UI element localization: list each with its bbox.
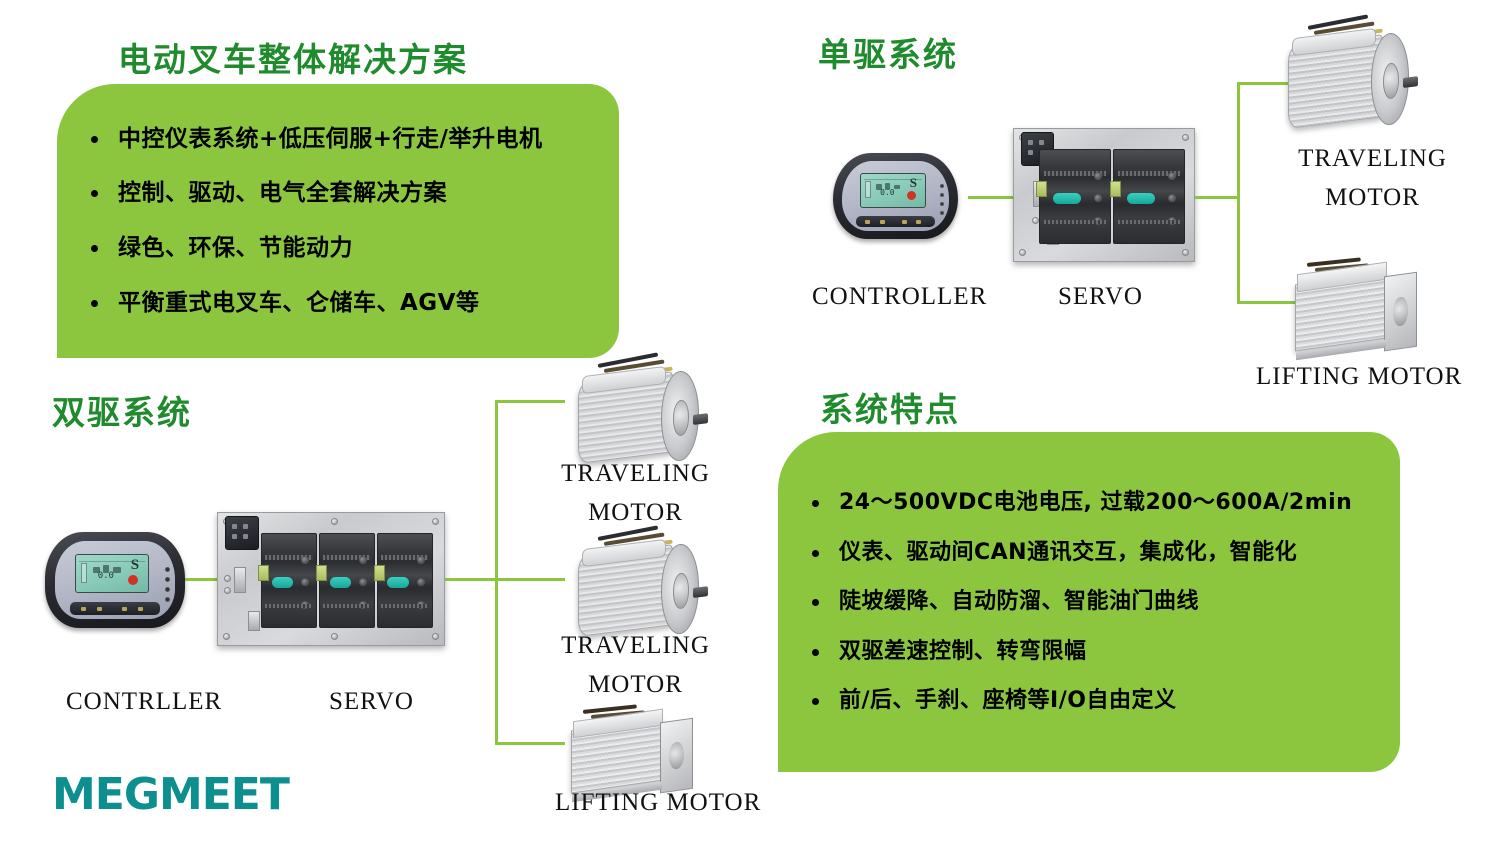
motor-shaft <box>693 586 708 598</box>
bullet-dot-icon <box>812 599 819 606</box>
single-drive-traveling-motor-image <box>1288 24 1416 136</box>
connector-pin <box>232 534 237 539</box>
servo-module <box>1113 149 1185 244</box>
bullet-text: 24～500VDC电池电压, 过载200～600A/2min <box>839 489 1352 517</box>
controller-led-strip <box>165 567 170 607</box>
bullet-dot-icon <box>812 649 819 656</box>
slide-canvas: 电动叉车整体解决方案 中控仪表系统+低压伺服+行走/举升电机 控制、驱动、电气全… <box>0 0 1500 857</box>
servo-bolt <box>359 556 367 564</box>
servo-terminal-strip <box>272 577 294 588</box>
connector-branch-to-lifting-motor-dual <box>495 742 565 745</box>
controller-lcd-screen: S 0.0 <box>860 173 926 208</box>
servo-bolt <box>359 578 367 586</box>
connector-dual-branch-stem <box>445 578 497 581</box>
lcd-mode-letter: S <box>131 558 139 573</box>
controller-keypad <box>70 602 159 615</box>
servo-baseplate <box>217 512 445 646</box>
controller-keypad <box>856 216 936 227</box>
servo-bolt <box>301 578 309 586</box>
bullet-text: 绿色、环保、节能动力 <box>118 234 353 263</box>
motor-flange <box>1384 272 1417 352</box>
servo-fuse <box>1036 181 1047 197</box>
servo-bolt <box>1094 217 1102 225</box>
plate-screw <box>224 575 231 582</box>
list-item: 陡坡缓降、自动防溜、智能油门曲线 <box>812 588 1374 616</box>
servo-bolt <box>1168 172 1176 180</box>
plate-screw <box>331 633 338 640</box>
bullet-dot-icon <box>812 698 819 705</box>
solution-panel: 中控仪表系统+低压伺服+行走/举升电机 控制、驱动、电气全套解决方案 绿色、环保… <box>57 84 619 358</box>
servo-baseplate <box>1013 128 1195 262</box>
bullet-text: 控制、驱动、电气全套解决方案 <box>118 179 447 208</box>
led-indicator <box>940 211 944 215</box>
plate-screw <box>331 518 338 525</box>
connector-pin <box>243 524 248 529</box>
plate-screw <box>1032 217 1039 224</box>
servo-terminal-strip <box>330 577 352 588</box>
features-bullet-list: 24～500VDC电池电压, 过载200～600A/2min 仪表、驱动间CAN… <box>778 432 1400 772</box>
led-indicator <box>165 587 170 592</box>
led-indicator <box>940 193 944 197</box>
servo-bolt <box>1094 194 1102 202</box>
dual-drive-traveling-motor-2-label: TRAVELING MOTOR <box>548 627 723 705</box>
bullet-dot-icon <box>91 136 98 143</box>
servo-bolt <box>1168 194 1176 202</box>
motor-shaft <box>1403 76 1418 88</box>
connector-pin <box>1028 140 1033 145</box>
single-drive-traveling-motor-label: TRAVELING MOTOR <box>1290 140 1455 218</box>
servo-bolt <box>1168 217 1176 225</box>
servo-busbar-tab <box>248 611 260 631</box>
servo-terminal-strip <box>387 577 409 588</box>
servo-module-stack <box>261 533 433 628</box>
connector-pin <box>232 524 237 529</box>
servo-fuse <box>258 565 269 581</box>
servo-module <box>1039 149 1111 244</box>
servo-busbar-tab <box>234 567 246 593</box>
dual-drive-lifting-motor-image <box>568 705 696 801</box>
servo-terminal-strip <box>1127 193 1155 204</box>
plate-screw <box>1182 134 1189 141</box>
plate-screw <box>1182 249 1189 256</box>
dual-drive-traveling-motor-1-label: TRAVELING MOTOR <box>548 455 723 533</box>
solution-bullet-list: 中控仪表系统+低压伺服+行走/举升电机 控制、驱动、电气全套解决方案 绿色、环保… <box>57 84 619 358</box>
servo-bolt <box>359 601 367 609</box>
lcd-icon-cloud <box>894 185 900 190</box>
servo-terminal-strip <box>1053 193 1081 204</box>
lcd-battery-gauge <box>865 181 870 198</box>
controller-face: S 0.0 <box>842 161 950 232</box>
servo-fuse <box>374 565 385 581</box>
keypad-button <box>865 220 870 224</box>
bullet-text: 平衡重式电叉车、仑储车、AGV等 <box>118 289 479 318</box>
connector-branch-spine <box>1237 82 1240 304</box>
keypad-button <box>81 607 86 611</box>
dual-drive-lifting-motor-label: LIFTING MOTOR <box>555 789 761 817</box>
plate-screw <box>223 633 230 640</box>
keypad-button <box>138 607 143 611</box>
controller-face: S 0.0 <box>55 541 175 620</box>
controller-led-strip <box>940 184 944 220</box>
bullet-text: 前/后、手刹、座椅等I/O自由定义 <box>839 687 1176 715</box>
single-drive-title: 单驱系统 <box>818 28 958 76</box>
list-item: 24～500VDC电池电压, 过载200～600A/2min <box>812 489 1374 517</box>
connector-branch-to-traveling-motor-2 <box>495 578 565 581</box>
plate-screw <box>1019 249 1026 256</box>
dual-drive-controller-image: S 0.0 <box>45 532 185 628</box>
keypad-button <box>916 220 921 224</box>
led-indicator <box>165 597 170 602</box>
list-item: 双驱差速控制、转弯限幅 <box>812 638 1374 666</box>
connector-controller-to-servo-dual <box>185 578 217 581</box>
bullet-text: 中控仪表系统+低压伺服+行走/举升电机 <box>118 125 542 154</box>
servo-bolt <box>301 601 309 609</box>
servo-bolt <box>417 578 425 586</box>
motor-shaft <box>693 413 708 425</box>
plate-screw <box>432 518 439 525</box>
bullet-dot-icon <box>91 245 98 252</box>
lcd-icon-cloud <box>113 567 120 572</box>
bullet-text: 双驱差速控制、转弯限幅 <box>839 638 1087 666</box>
servo-module <box>319 533 375 628</box>
lcd-mode-letter: S <box>910 176 917 189</box>
plate-screw <box>432 633 439 640</box>
megmeet-logo: MEGMEET <box>52 769 289 820</box>
bullet-text: 陡坡缓降、自动防溜、智能油门曲线 <box>839 588 1199 616</box>
keypad-button <box>122 607 127 611</box>
connector-controller-to-servo <box>968 196 1013 199</box>
bullet-text: 仪表、驱动间CAN通讯交互，集成化，智能化 <box>839 539 1297 567</box>
connector-pin <box>1039 140 1044 145</box>
list-item: 控制、驱动、电气全套解决方案 <box>91 179 593 208</box>
servo-bolt <box>1094 172 1102 180</box>
keypad-button <box>880 220 885 224</box>
led-indicator <box>165 577 170 582</box>
dual-drive-title: 双驱系统 <box>52 386 192 434</box>
list-item: 前/后、手刹、座椅等I/O自由定义 <box>812 687 1374 715</box>
single-drive-servo-label: SERVO <box>1058 283 1143 311</box>
servo-fuse <box>316 565 327 581</box>
dual-drive-controller-label: CONTRLLER <box>66 688 222 716</box>
connector-pin <box>1028 150 1033 155</box>
lcd-warning-indicator <box>128 575 138 585</box>
list-item: 平衡重式电叉车、仑储车、AGV等 <box>91 289 593 318</box>
controller-lcd-screen: S 0.0 <box>75 554 148 593</box>
single-drive-controller-label: CONTROLLER <box>812 283 987 311</box>
servo-module <box>377 533 433 628</box>
bullet-dot-icon <box>91 300 98 307</box>
servo-bolt <box>301 556 309 564</box>
single-drive-controller-image: S 0.0 <box>833 153 958 239</box>
bullet-dot-icon <box>812 500 819 507</box>
lcd-speed-value: 0.0 <box>880 189 894 197</box>
led-indicator <box>940 202 944 206</box>
list-item: 中控仪表系统+低压伺服+行走/举升电机 <box>91 125 593 154</box>
motor-flange <box>660 718 693 794</box>
single-drive-lifting-motor-label: LIFTING MOTOR <box>1256 363 1462 391</box>
servo-bolt <box>417 601 425 609</box>
servo-power-connector <box>225 516 259 550</box>
servo-module-stack <box>1039 149 1185 244</box>
dual-drive-servo-image <box>217 512 445 646</box>
dual-drive-servo-label: SERVO <box>329 688 414 716</box>
plate-screw <box>224 587 231 594</box>
keypad-button <box>97 607 102 611</box>
servo-module <box>261 533 317 628</box>
lcd-battery-gauge <box>81 563 87 582</box>
connector-pin <box>243 534 248 539</box>
lcd-speed-value: 0.0 <box>98 572 114 581</box>
bullet-dot-icon <box>812 550 819 557</box>
servo-bolt <box>417 556 425 564</box>
list-item: 绿色、环保、节能动力 <box>91 234 593 263</box>
led-indicator <box>165 567 170 572</box>
connector-servo-branch-stem <box>1195 196 1239 199</box>
servo-fuse <box>1110 181 1121 197</box>
led-indicator <box>940 184 944 188</box>
keypad-button <box>902 220 907 224</box>
features-title: 系统特点 <box>820 383 960 431</box>
single-drive-servo-image <box>1013 128 1195 262</box>
features-panel: 24～500VDC电池电压, 过载200～600A/2min 仪表、驱动间CAN… <box>778 432 1400 772</box>
list-item: 仪表、驱动间CAN通讯交互，集成化，智能化 <box>812 539 1374 567</box>
bullet-dot-icon <box>91 190 98 197</box>
connector-branch-to-traveling-motor-1 <box>495 400 565 403</box>
lcd-warning-indicator <box>907 191 916 200</box>
connector-dual-branch-spine <box>495 400 498 745</box>
solution-title: 电动叉车整体解决方案 <box>118 33 468 81</box>
single-drive-lifting-motor-image <box>1292 258 1420 360</box>
